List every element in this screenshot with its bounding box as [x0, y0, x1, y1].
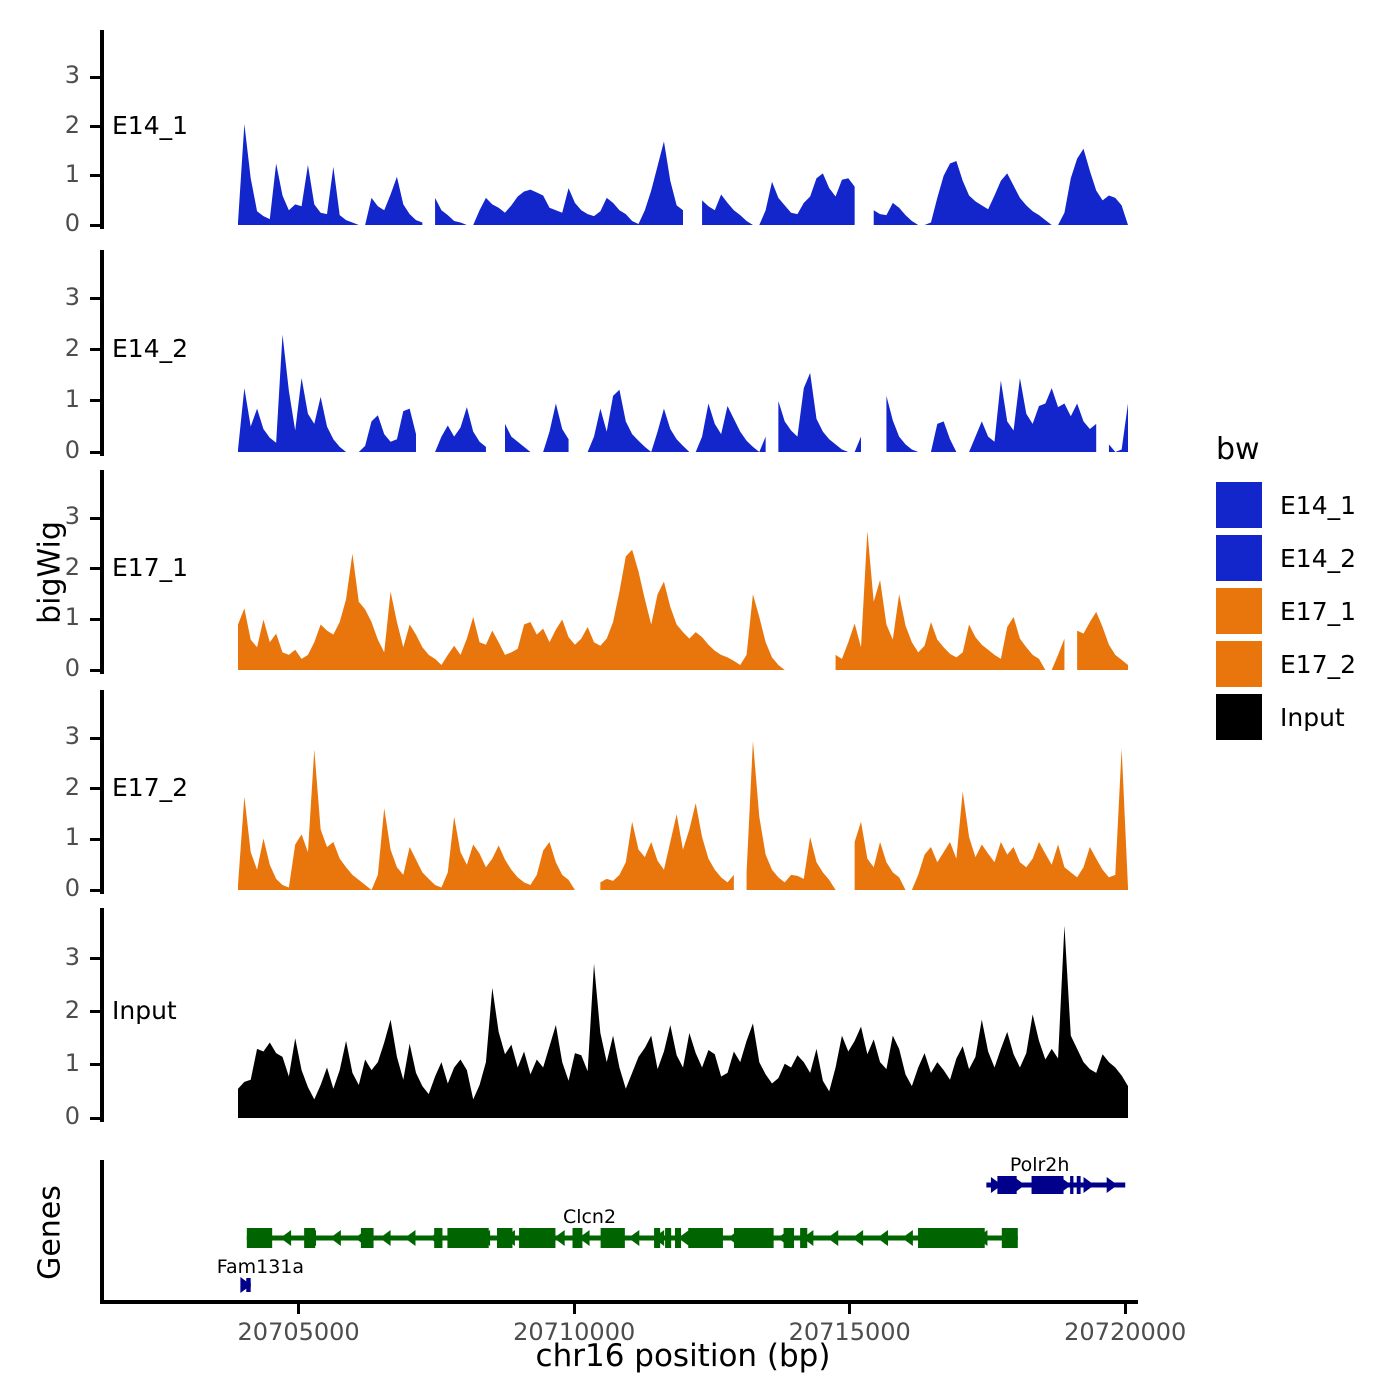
genes-glyphs — [0, 0, 1400, 1400]
y-axis-spine-input — [100, 908, 104, 1122]
y-tick-label: 3 — [10, 502, 80, 530]
legend-swatch-e17_1 — [1216, 588, 1262, 634]
y-tick-mark — [90, 838, 100, 841]
y-tick-mark — [90, 669, 100, 672]
signal-track-e17_2 — [0, 0, 1400, 1400]
genes-axis-spine — [100, 1160, 104, 1300]
signal-track-e17_1 — [0, 0, 1400, 1400]
track-label-e14_1: E14_1 — [112, 111, 188, 140]
y-tick-mark — [90, 224, 100, 227]
x-axis-line — [100, 1300, 1138, 1304]
x-tick-mark — [297, 1304, 300, 1314]
y-tick-label: 0 — [10, 209, 80, 237]
y-tick-mark — [90, 451, 100, 454]
y-axis-spine-e14_2 — [100, 250, 104, 456]
y-tick-mark — [90, 297, 100, 300]
legend-label-e14_2: E14_2 — [1280, 544, 1356, 573]
legend-item-input[interactable]: Input — [1216, 694, 1345, 740]
legend-item-e17_2[interactable]: E17_2 — [1216, 641, 1356, 687]
y-tick-label: 0 — [10, 1102, 80, 1130]
legend-label-e17_1: E17_1 — [1280, 597, 1356, 626]
legend-item-e14_2[interactable]: E14_2 — [1216, 535, 1356, 581]
legend-swatch-e17_2 — [1216, 641, 1262, 687]
gene-label-fam131a: Fam131a — [217, 1256, 304, 1278]
y-tick-mark — [90, 787, 100, 790]
y-tick-label: 0 — [10, 654, 80, 682]
y-tick-label: 2 — [10, 553, 80, 581]
legend-label-input: Input — [1280, 703, 1345, 732]
y-tick-label: 2 — [10, 996, 80, 1024]
signal-track-e14_2 — [0, 0, 1400, 1400]
y-tick-label: 1 — [10, 385, 80, 413]
x-axis-title: chr16 position (bp) — [238, 1338, 1128, 1374]
legend-title: bw — [1216, 432, 1260, 467]
y-axis-spine-e17_2 — [100, 690, 104, 894]
y-tick-mark — [90, 517, 100, 520]
y-tick-label: 2 — [10, 111, 80, 139]
x-tick-mark — [848, 1304, 851, 1314]
y-tick-label: 3 — [10, 722, 80, 750]
signal-track-e14_1 — [0, 0, 1400, 1400]
y-tick-mark — [90, 567, 100, 570]
y-tick-mark — [90, 957, 100, 960]
legend-item-e14_1[interactable]: E14_1 — [1216, 482, 1356, 528]
legend-item-e17_1[interactable]: E17_1 — [1216, 588, 1356, 634]
gene-label-polr2h: Polr2h — [1010, 1154, 1070, 1176]
y-tick-label: 1 — [10, 823, 80, 851]
y-tick-label: 3 — [10, 943, 80, 971]
legend-label-e17_2: E17_2 — [1280, 650, 1356, 679]
legend-swatch-e14_1 — [1216, 482, 1262, 528]
track-label-input: Input — [112, 996, 177, 1025]
y-tick-mark — [90, 737, 100, 740]
y-tick-label: 3 — [10, 283, 80, 311]
y-tick-label: 0 — [10, 436, 80, 464]
track-label-e17_1: E17_1 — [112, 553, 188, 582]
x-tick-mark — [573, 1304, 576, 1314]
track-label-e14_2: E14_2 — [112, 334, 188, 363]
y-tick-mark — [90, 76, 100, 79]
signal-track-input — [0, 0, 1400, 1400]
y-tick-label: 1 — [10, 603, 80, 631]
y-tick-label: 2 — [10, 773, 80, 801]
y-tick-mark — [90, 889, 100, 892]
y-tick-mark — [90, 1117, 100, 1120]
y-tick-label: 2 — [10, 334, 80, 362]
y-tick-mark — [90, 348, 100, 351]
y-axis-spine-e17_1 — [100, 470, 104, 674]
y-axis-title-genes: Genes — [33, 1148, 68, 1318]
legend-swatch-e14_2 — [1216, 535, 1262, 581]
x-tick-mark — [1124, 1304, 1127, 1314]
y-tick-mark — [90, 1010, 100, 1013]
y-tick-mark — [90, 125, 100, 128]
y-tick-label: 1 — [10, 160, 80, 188]
y-tick-mark — [90, 399, 100, 402]
y-tick-mark — [90, 174, 100, 177]
track-label-e17_2: E17_2 — [112, 773, 188, 802]
legend-label-e14_1: E14_1 — [1280, 491, 1356, 520]
y-tick-mark — [90, 618, 100, 621]
y-tick-label: 1 — [10, 1049, 80, 1077]
y-tick-mark — [90, 1063, 100, 1066]
y-axis-spine-e14_1 — [100, 30, 104, 229]
legend-swatch-input — [1216, 694, 1262, 740]
gene-label-clcn2: Clcn2 — [563, 1206, 616, 1228]
y-tick-label: 0 — [10, 874, 80, 902]
y-tick-label: 3 — [10, 61, 80, 89]
